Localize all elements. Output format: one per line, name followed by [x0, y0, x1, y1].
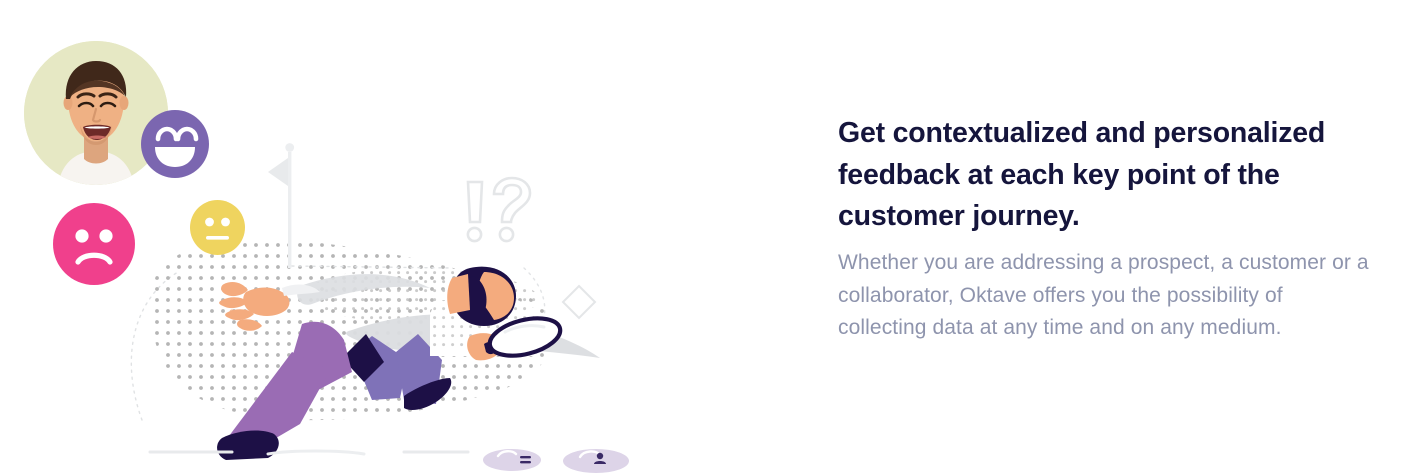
ground-pill-left: [483, 449, 541, 471]
page-title: Get contextualized and personalized feed…: [838, 113, 1373, 238]
happy-face-icon: [141, 110, 209, 178]
question-mark-icon: [494, 178, 530, 241]
sad-face-icon: [53, 203, 135, 285]
exclamation-mark-icon: [468, 182, 482, 241]
hero-illustration: [0, 0, 700, 475]
accent-dot: [229, 309, 234, 314]
ground-pill-right: [563, 449, 629, 473]
ground-shadow-mid: [268, 451, 364, 454]
hero-section: Get contextualized and personalized feed…: [0, 0, 1418, 475]
hero-body-text: Whether you are addressing a prospect, a…: [838, 247, 1373, 345]
figure-front-shoe: [217, 431, 279, 460]
hero-text-column: Get contextualized and personalized feed…: [838, 0, 1378, 475]
neutral-face-icon: [190, 200, 245, 255]
diamond-outline-icon: [563, 286, 595, 318]
